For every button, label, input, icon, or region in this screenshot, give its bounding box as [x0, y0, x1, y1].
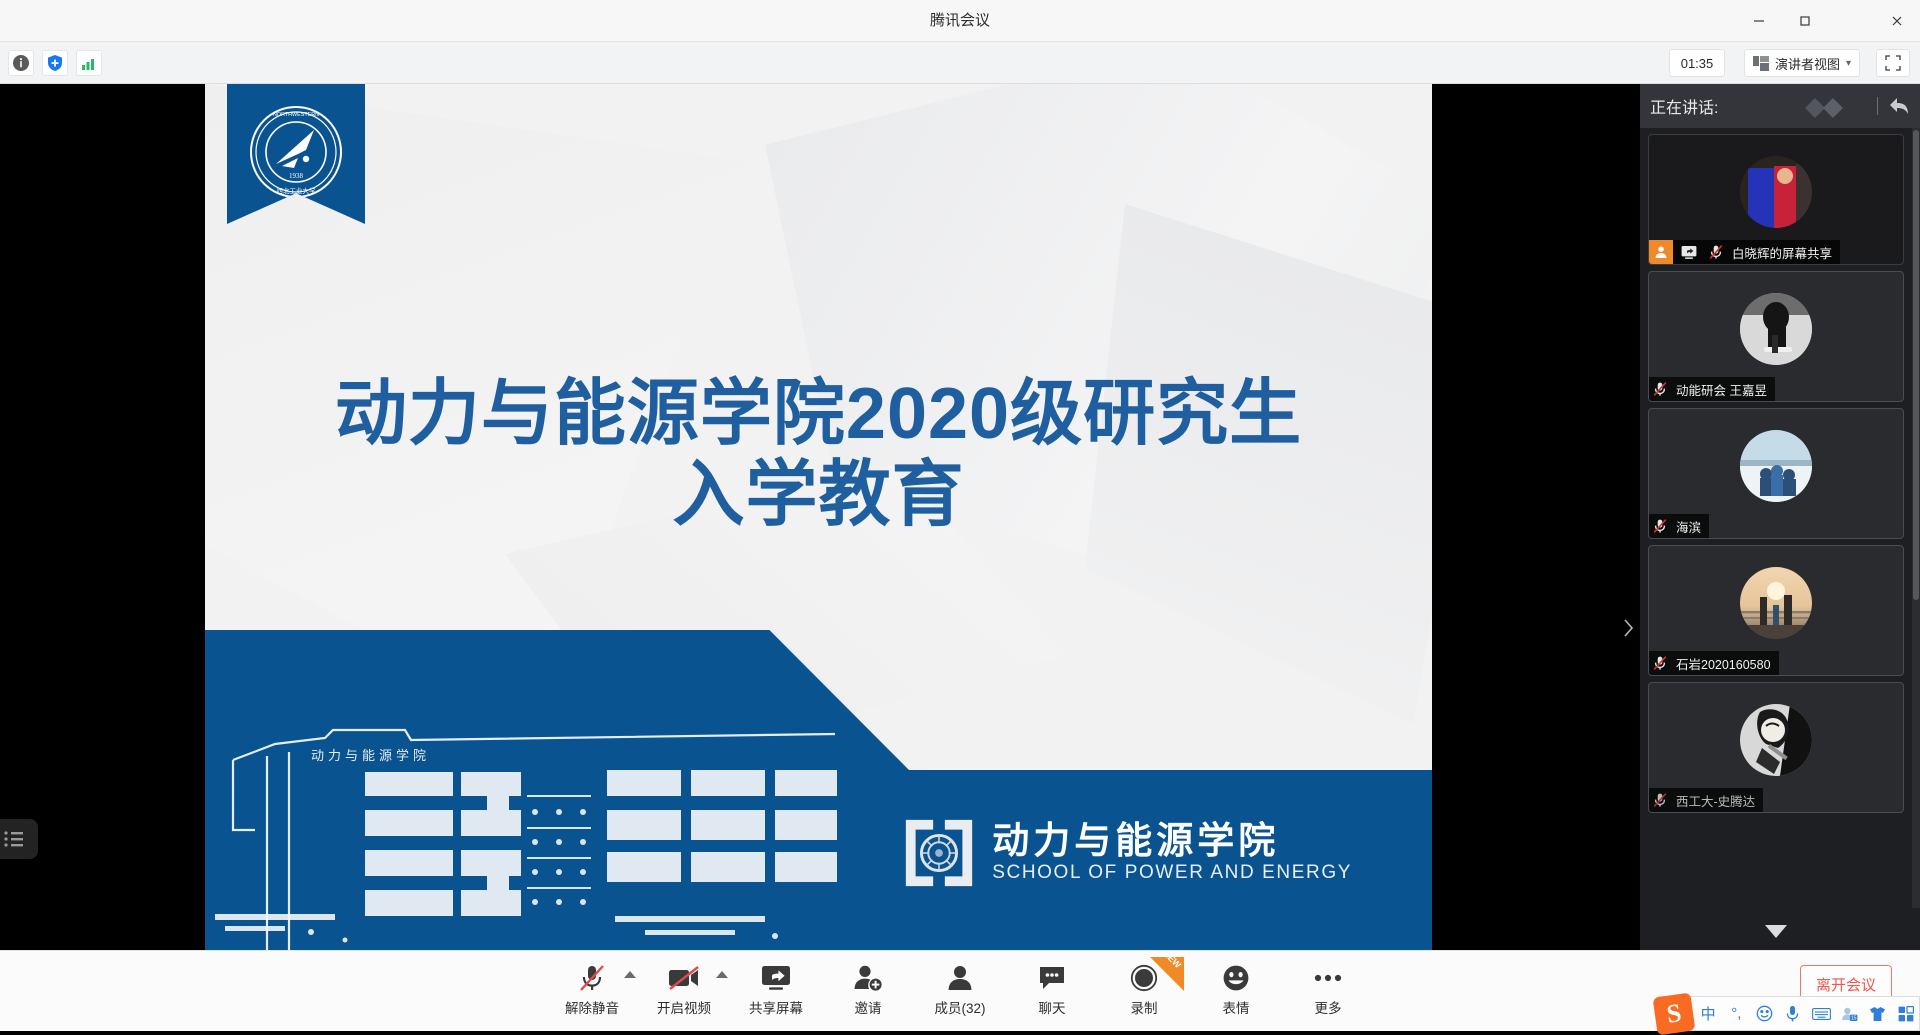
video-options-caret[interactable]: [716, 971, 728, 978]
chevron-down-icon: ▾: [1846, 58, 1851, 69]
shield-add-icon[interactable]: [42, 50, 68, 76]
more-button[interactable]: 更多: [1282, 957, 1374, 1027]
emoji-icon: [1222, 961, 1250, 995]
participant-tile[interactable]: 海滨: [1648, 408, 1904, 539]
ime-skin-store[interactable]: [1865, 999, 1891, 1029]
app-title: 腾讯会议: [0, 0, 1920, 42]
participant-tile[interactable]: 白晓辉的屏幕共享: [1648, 134, 1904, 265]
svg-text:1938: 1938: [289, 172, 304, 180]
name-plate: 西工大-史腾达: [1649, 788, 1763, 812]
school-name-en: SCHOOL OF POWER AND ENERGY: [992, 862, 1352, 884]
control-label: 成员(32): [934, 997, 985, 1017]
slide-title: 动力与能源学院2020级研究生 入学教育: [205, 374, 1432, 535]
mic-muted-icon: [1649, 788, 1671, 812]
avatar: [1740, 567, 1812, 639]
name-plate: 动能研会 王嘉昱: [1649, 377, 1775, 401]
control-label: 聊天: [1039, 997, 1066, 1017]
svg-text:NORTHWESTERN: NORTHWESTERN: [273, 112, 319, 118]
invite-user-icon: [853, 961, 883, 995]
participant-name: 动能研会 王嘉昱: [1676, 380, 1767, 399]
invite-button[interactable]: 邀请: [822, 957, 914, 1027]
participant-sidebar: 正在讲话:: [1640, 84, 1920, 950]
info-icon[interactable]: [8, 50, 34, 76]
control-label: 邀请: [855, 997, 882, 1017]
view-mode-selector[interactable]: 演讲者视图 ▾: [1744, 49, 1860, 77]
school-emblem-icon: [900, 814, 978, 892]
svg-text:15: 15: [1851, 1015, 1857, 1021]
chevron-right-icon: [1621, 617, 1635, 639]
sidebar-scrollbar[interactable]: [1912, 128, 1920, 908]
shared-screen-slide[interactable]: 1938 NORTHWESTERN 西北工业大学 动力与能源学院2020级研究生…: [205, 84, 1432, 950]
control-label: 开启视频: [657, 997, 711, 1017]
sidebar-collapse-button[interactable]: [1616, 604, 1640, 652]
mic-muted-icon: [1649, 377, 1671, 401]
control-label: 解除静音: [565, 997, 619, 1017]
emoji-button[interactable]: 表情: [1190, 957, 1282, 1027]
fullscreen-button[interactable]: [1876, 49, 1910, 77]
sogou-logo-icon[interactable]: S: [1653, 993, 1696, 1035]
speaker-view-icon: [1753, 56, 1769, 71]
speaking-label: 正在讲话:: [1650, 94, 1803, 118]
participants-button[interactable]: 成员(32): [914, 957, 1006, 1027]
brand-mark-icon: [1803, 94, 1859, 118]
meeting-stage: 1938 NORTHWESTERN 西北工业大学 动力与能源学院2020级研究生…: [0, 84, 1920, 950]
window-close-button[interactable]: [1874, 0, 1920, 42]
layout-list-button[interactable]: [0, 819, 38, 859]
view-mode-label: 演讲者视图: [1775, 54, 1840, 73]
mic-muted-icon: [577, 961, 607, 995]
signal-bars-icon[interactable]: [76, 50, 102, 76]
window-maximize-button[interactable]: [1782, 0, 1828, 42]
back-arrow-icon[interactable]: [1888, 96, 1910, 116]
avatar: [1740, 156, 1812, 228]
ime-emoji-panel[interactable]: [1752, 999, 1778, 1029]
control-label: 共享屏幕: [749, 997, 803, 1017]
new-badge: NEW: [1150, 957, 1184, 991]
blueprint-label: 动力与能源学院: [311, 748, 430, 763]
participant-name: 西工大-史腾达: [1676, 791, 1755, 810]
name-plate: 海滨: [1649, 514, 1709, 538]
window-minimize-button[interactable]: [1736, 0, 1782, 42]
school-name-cn: 动力与能源学院: [992, 822, 1352, 861]
speaking-header: 正在讲话:: [1640, 84, 1920, 128]
meeting-control-bar: 解除静音 开启视频 共享屏幕: [0, 950, 1920, 1031]
chevron-down-icon: [1763, 923, 1789, 939]
ime-voice-input[interactable]: [1780, 999, 1806, 1029]
participant-name: 海滨: [1676, 517, 1701, 536]
mic-muted-icon: [1649, 651, 1671, 675]
header-divider: [1877, 97, 1878, 115]
chat-bubble-icon: [1038, 961, 1066, 995]
participant-name: 白晓辉的屏幕共享: [1732, 243, 1832, 262]
mic-muted-icon: [1705, 240, 1727, 264]
school-logo: 动力与能源学院 SCHOOL OF POWER AND ENERGY: [900, 814, 1352, 892]
participants-icon: [946, 961, 974, 995]
mic-muted-icon: [1649, 514, 1671, 538]
share-screen-icon: [761, 961, 791, 995]
name-plate: 白晓辉的屏幕共享: [1649, 240, 1840, 264]
meeting-toolbar: 01:35 演讲者视图 ▾: [0, 42, 1920, 84]
name-plate: 石岩2020160580: [1649, 651, 1779, 675]
share-screen-button[interactable]: 共享屏幕: [730, 957, 822, 1027]
record-button[interactable]: 录制 NEW: [1098, 957, 1190, 1027]
unmute-button[interactable]: 解除静音: [546, 957, 638, 1027]
control-label: 录制: [1131, 997, 1158, 1017]
control-label: 更多: [1315, 997, 1342, 1017]
participant-name: 石岩2020160580: [1676, 654, 1771, 673]
chat-button[interactable]: 聊天: [1006, 957, 1098, 1027]
meeting-timer: 01:35: [1669, 49, 1725, 77]
host-badge-icon: [1649, 240, 1673, 264]
nwpu-crest-icon: 1938 NORTHWESTERN 西北工业大学: [246, 102, 346, 202]
scroll-down-button[interactable]: [1640, 918, 1912, 944]
avatar: [1740, 293, 1812, 365]
control-button-group: 解除静音 开启视频 共享屏幕: [546, 957, 1374, 1027]
avatar: [1740, 704, 1812, 776]
mic-options-caret[interactable]: [624, 971, 636, 978]
building-blueprint-illustration: 动力与能源学院: [215, 700, 855, 950]
participant-tile[interactable]: 西工大-史腾达: [1648, 682, 1904, 813]
participant-tile[interactable]: 石岩2020160580: [1648, 545, 1904, 676]
layout-list-icon: [3, 830, 25, 848]
participant-tile[interactable]: 动能研会 王嘉昱: [1648, 271, 1904, 402]
ime-user-center[interactable]: 15: [1836, 999, 1862, 1029]
screen-share-icon: [1678, 240, 1700, 264]
avatar: [1740, 430, 1812, 502]
ime-language-toggle[interactable]: 中: [1695, 999, 1721, 1029]
start-video-button[interactable]: 开启视频: [638, 957, 730, 1027]
ime-toolbox[interactable]: [1893, 999, 1919, 1029]
scrollbar-thumb[interactable]: [1913, 130, 1919, 600]
more-dots-icon: [1313, 961, 1343, 995]
ime-soft-keyboard[interactable]: [1808, 999, 1834, 1029]
camera-off-icon: [668, 961, 700, 995]
window-title-bar: 腾讯会议: [0, 0, 1920, 42]
control-label: 表情: [1223, 997, 1250, 1017]
participant-tile-list[interactable]: 白晓辉的屏幕共享: [1640, 128, 1912, 908]
ime-punctuation-toggle[interactable]: °,: [1723, 999, 1749, 1029]
ime-toolbar[interactable]: S 中 °, 15: [1658, 996, 1920, 1031]
